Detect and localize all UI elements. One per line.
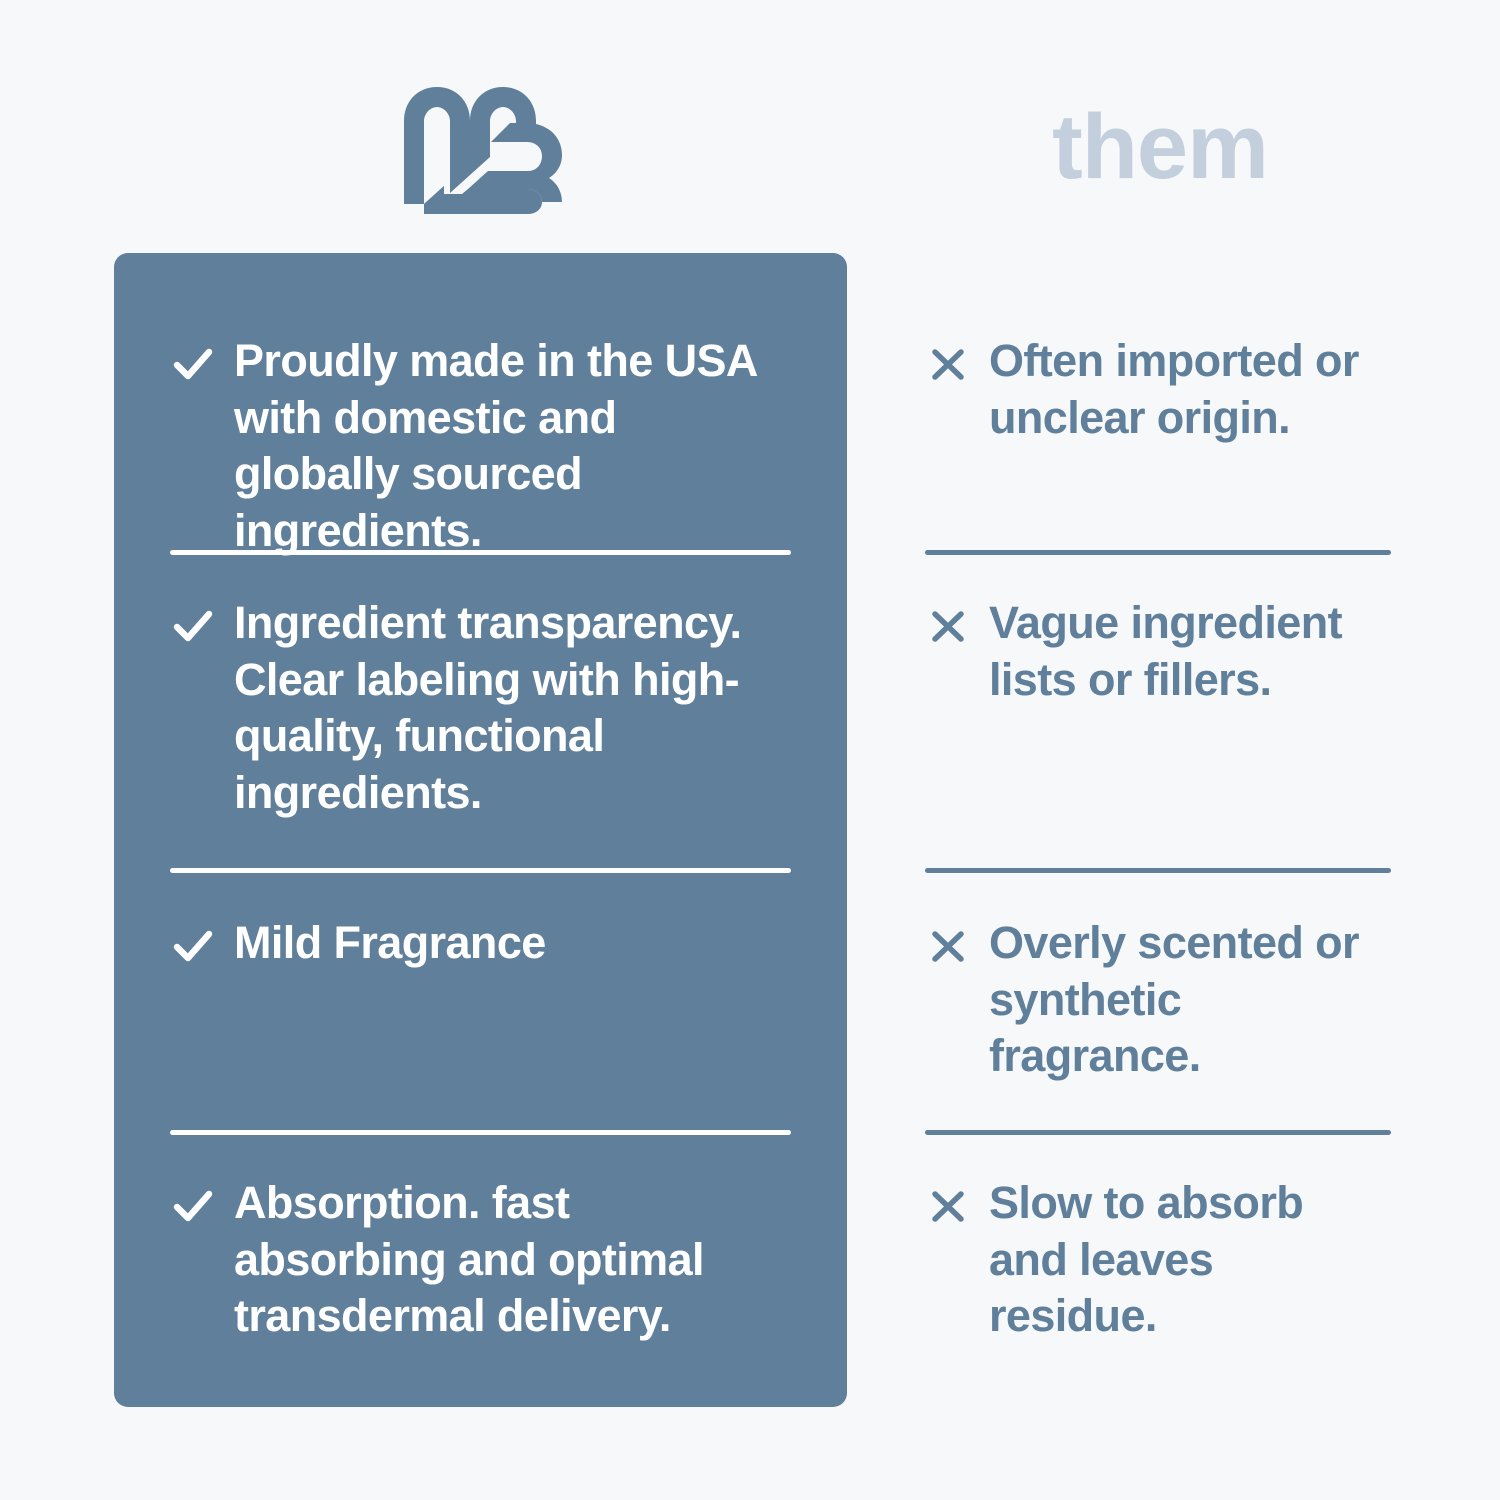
check-icon [170, 923, 216, 969]
brand-divider [170, 1130, 791, 1135]
them-list-item: Overly scented or synthetic fragrance. [925, 915, 1391, 1085]
them-divider [925, 1130, 1391, 1135]
them-divider [925, 868, 1391, 873]
brand-comparison-card: Proudly made in the USA with domestic an… [114, 253, 847, 1407]
them-list-item: Vague ingredient lists or fillers. [925, 595, 1391, 708]
x-icon [925, 603, 971, 649]
brand-list-item-text: Ingredient transparency. Clear labeling … [234, 595, 791, 822]
brand-list-item: Ingredient transparency. Clear labeling … [170, 595, 791, 822]
x-icon [925, 341, 971, 387]
check-icon [170, 341, 216, 387]
them-column-title: them [890, 72, 1430, 222]
brand-divider [170, 550, 791, 555]
brand-list-item-text: Absorption. fast absorbing and optimal t… [234, 1175, 791, 1345]
them-list-item-text: Vague ingredient lists or fillers. [989, 595, 1391, 708]
brand-list-item-text: Mild Fragrance [234, 915, 546, 972]
brand-divider [170, 868, 791, 873]
them-list-item: Often imported or unclear origin. [925, 333, 1391, 446]
check-icon [170, 1183, 216, 1229]
them-list-item-text: Slow to absorb and leaves residue. [989, 1175, 1391, 1345]
brand-list-item: Mild Fragrance [170, 915, 546, 972]
x-icon [925, 923, 971, 969]
x-icon [925, 1183, 971, 1229]
mb-monogram-logo [114, 72, 847, 222]
brand-list-item-text: Proudly made in the USA with domestic an… [234, 333, 791, 560]
header: them [0, 0, 1500, 253]
comparison-infographic: them Proudly made in the USA with domest… [0, 0, 1500, 1500]
check-icon [170, 603, 216, 649]
brand-list-item: Proudly made in the USA with domestic an… [170, 333, 791, 560]
them-divider [925, 550, 1391, 555]
brand-list-item: Absorption. fast absorbing and optimal t… [170, 1175, 791, 1345]
them-list-item-text: Often imported or unclear origin. [989, 333, 1391, 446]
them-list-item: Slow to absorb and leaves residue. [925, 1175, 1391, 1345]
them-list-item-text: Overly scented or synthetic fragrance. [989, 915, 1391, 1085]
brand-benefit-list: Proudly made in the USA with domestic an… [170, 253, 791, 1407]
them-drawback-list: Often imported or unclear origin. Vague … [925, 253, 1391, 1407]
